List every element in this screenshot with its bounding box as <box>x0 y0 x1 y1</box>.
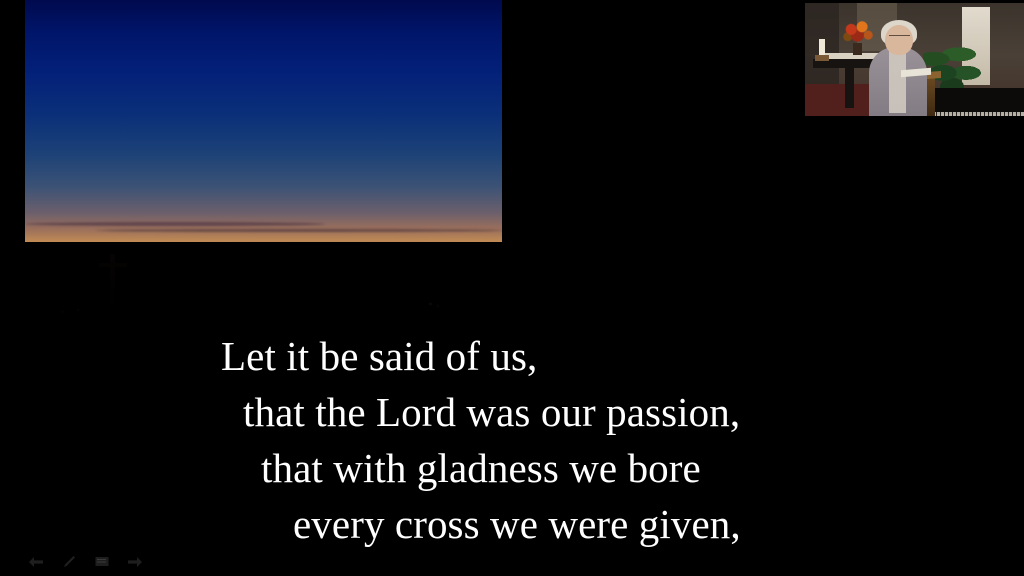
cross-post <box>110 254 115 306</box>
cloud-streak <box>95 229 502 232</box>
lyric-line-2: that the Lord was our passion, <box>0 384 1024 440</box>
glasses-icon <box>889 35 910 39</box>
altar-table-leg <box>845 68 854 108</box>
cross-icon <box>99 254 127 306</box>
speaker-video-thumbnail[interactable] <box>805 0 1024 123</box>
foreground-dark-ground <box>25 242 502 322</box>
flower-arrangement <box>841 19 875 45</box>
video-frame <box>805 3 1024 120</box>
distant-light <box>61 311 64 313</box>
pen-icon[interactable] <box>61 554 77 570</box>
menu-icon[interactable] <box>94 554 110 570</box>
speaker-scarf <box>889 51 906 113</box>
video-bottom-edge <box>805 116 1024 123</box>
cross-arm <box>99 263 127 267</box>
candle-holder <box>815 55 829 61</box>
candle <box>819 39 825 55</box>
left-arrow-icon[interactable] <box>28 554 44 570</box>
distant-light <box>69 314 71 316</box>
lyric-line-4: every cross we were given, <box>0 496 1024 552</box>
presentation-stage: Let it be said of us, that the Lord was … <box>0 0 1024 576</box>
distant-light <box>437 305 439 307</box>
lyric-line-3: that with gladness we bore <box>0 440 1024 496</box>
lyrics-block: Let it be said of us, that the Lord was … <box>0 328 1024 552</box>
speaker-head <box>885 25 913 55</box>
lyric-line-1: Let it be said of us, <box>0 328 1024 384</box>
piano <box>933 88 1024 114</box>
cloud-streak <box>25 222 325 226</box>
distant-light <box>77 309 79 311</box>
right-arrow-icon[interactable] <box>127 554 143 570</box>
presenter-controls[interactable] <box>28 554 143 570</box>
sunset-cross-photo <box>25 0 502 322</box>
distant-light <box>429 303 432 305</box>
